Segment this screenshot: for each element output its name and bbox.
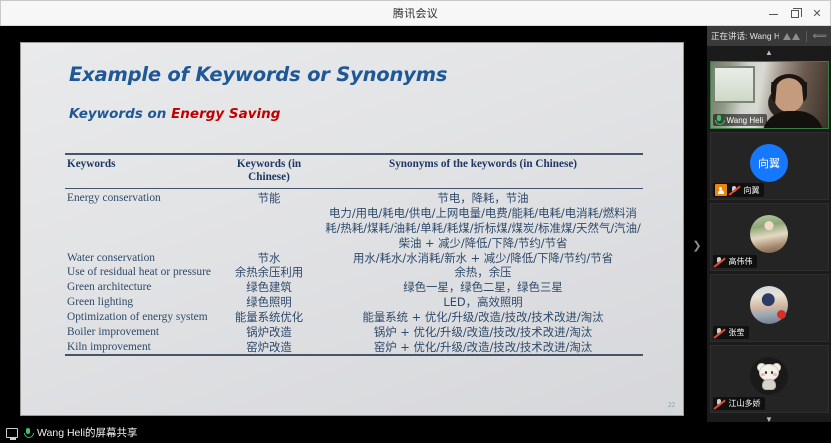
- screen-share-label: Wang Heli的屏幕共享: [37, 425, 138, 440]
- cell-synonyms: 锅炉 + 优化/升级/改造/技改/技术改进/淘汰: [323, 325, 643, 340]
- participant-tile-jiangshanduojiao[interactable]: 江山多娇: [710, 345, 829, 413]
- bottom-status-bar: Wang Heli的屏幕共享: [0, 422, 831, 443]
- participant-tile-xiangyi[interactable]: 向翼 向翼: [710, 132, 829, 200]
- presentation-slide: Example of Keywords or Synonyms Keywords…: [21, 43, 683, 415]
- table-row-extra: 电力/用电/耗电/供电/上网电量/电费/能耗/电耗/电消耗/燃料消耗/热耗/煤耗…: [65, 206, 643, 250]
- mic-on-icon: [23, 428, 32, 438]
- table-row: Use of residual heat or pressure 余热余压利用 …: [65, 265, 643, 280]
- minimize-icon: [769, 14, 778, 15]
- bear-avatar-icon: [756, 364, 782, 390]
- participant-name: 张莹: [729, 327, 745, 338]
- cell-keyword-zh: 锅炉改造: [215, 325, 323, 340]
- participant-name: 高伟伟: [729, 256, 753, 267]
- column-header-keywords: Keywords: [65, 154, 215, 188]
- screen-share-icon: [6, 428, 18, 438]
- participant-name: Wang Heli: [727, 116, 764, 125]
- bear-cheek-right: [773, 373, 777, 376]
- active-speaker-label: 正在讲话: Wang Heli;: [711, 30, 779, 42]
- cell-synonyms: LED，高效照明: [323, 295, 643, 310]
- close-icon: ✕: [812, 9, 821, 20]
- person-body: [762, 111, 824, 128]
- participant-tile-wang-heli[interactable]: Wang Heli: [710, 61, 829, 129]
- cell-keyword-zh: 能量系统优化: [215, 310, 323, 325]
- cell-synonyms-extra: 电力/用电/耗电/供电/上网电量/电费/能耗/电耗/电消耗/燃料消耗/热耗/煤耗…: [323, 206, 643, 250]
- tile-label: 江山多娇: [713, 397, 765, 410]
- maximize-button[interactable]: [784, 2, 806, 26]
- cell-keyword-en: Boiler improvement: [65, 325, 215, 340]
- slide-title: Example of Keywords or Synonyms: [69, 63, 447, 86]
- participants-sidebar: 正在讲话: Wang Heli; ⟸ ▲ Wang Heli: [706, 26, 831, 422]
- person-head: [774, 78, 804, 112]
- cell-keyword-en: Energy conservation: [65, 191, 215, 206]
- mic-off-icon: [715, 399, 726, 409]
- mic-on-icon: [715, 115, 724, 125]
- table-body: Energy conservation 节能 节电，降耗，节油 电力/用电/耗电…: [65, 188, 643, 355]
- participant-tile-zhangying[interactable]: 张莹: [710, 274, 829, 342]
- cell-keyword-zh: 节水: [215, 251, 323, 266]
- participant-name: 江山多娇: [729, 398, 761, 409]
- cell-synonyms: 用水/耗水/水消耗/新水 + 减少/降低/下降/节约/节省: [323, 251, 643, 266]
- cell-keyword-zh: 绿色照明: [215, 295, 323, 310]
- tile-label: 高伟伟: [713, 255, 757, 268]
- cell-synonyms: 节电，降耗，节油: [323, 191, 643, 206]
- table-row: Green lighting 绿色照明 LED，高效照明: [65, 295, 643, 310]
- cell-synonyms: 窑炉 + 优化/升级/改造/技改/技术改进/淘汰: [323, 340, 643, 356]
- participant-tile-gaoweiwei[interactable]: 高伟伟: [710, 203, 829, 271]
- close-button[interactable]: ✕: [806, 2, 828, 26]
- table-header: Keywords Keywords (in Chinese) Synonyms …: [65, 154, 643, 188]
- slide-subtitle: Keywords on Energy Saving: [69, 106, 280, 122]
- title-bar: 腾讯会议 ✕: [0, 0, 831, 26]
- shared-screen-stage: Example of Keywords or Synonyms Keywords…: [0, 26, 706, 422]
- cell-keyword-en: Optimization of energy system: [65, 310, 215, 325]
- participant-name: 向翼: [744, 185, 760, 196]
- bear-cheek-left: [761, 373, 765, 376]
- cell-keyword-zh: 节能: [215, 191, 323, 206]
- mic-off-icon: [730, 185, 741, 195]
- mic-off-icon: [715, 328, 726, 338]
- cell-keyword-zh: 窑炉改造: [215, 340, 323, 356]
- cell-empty-zh: [215, 206, 323, 250]
- cell-empty-en: [65, 206, 215, 250]
- tile-label: 向翼: [713, 183, 764, 197]
- tile-label: 张莹: [713, 326, 749, 339]
- collapse-arrow-icon[interactable]: ⟸: [813, 31, 827, 42]
- slide-subtitle-accent: Energy Saving: [171, 106, 280, 122]
- cell-synonyms: 能量系统 + 优化/升级/改造/技改/技术改进/淘汰: [323, 310, 643, 325]
- table-row: Energy conservation 节能 节电，降耗，节油: [65, 191, 643, 206]
- table-header-row: Keywords Keywords (in Chinese) Synonyms …: [65, 154, 643, 188]
- tencent-meeting-window: 腾讯会议 ✕ Example of Keywords or Synonyms K…: [0, 0, 831, 443]
- window-title: 腾讯会议: [393, 5, 438, 21]
- table-row: Kiln improvement 窑炉改造 窑炉 + 优化/升级/改造/技改/技…: [65, 340, 643, 356]
- table-row: Optimization of energy system 能量系统优化 能量系…: [65, 310, 643, 325]
- tile-label: Wang Heli: [713, 114, 768, 126]
- cell-synonyms: 绿色一星，绿色二星，绿色三星: [323, 280, 643, 295]
- avatar: [750, 286, 788, 324]
- slide-page-number: 22: [668, 401, 675, 409]
- avatar: [750, 357, 788, 395]
- keywords-table: Keywords Keywords (in Chinese) Synonyms …: [65, 153, 643, 356]
- cell-keyword-en: Kiln improvement: [65, 340, 215, 356]
- maximize-icon: [791, 10, 799, 18]
- table-row: Water conservation 节水 用水/耗水/水消耗/新水 + 减少/…: [65, 251, 643, 266]
- cell-keyword-zh: 绿色建筑: [215, 280, 323, 295]
- cell-keyword-en: Water conservation: [65, 251, 215, 266]
- scroll-up-button[interactable]: ▲: [707, 46, 831, 58]
- table-row: Green architecture 绿色建筑 绿色一星，绿色二星，绿色三星: [65, 280, 643, 295]
- window-controls: ✕: [762, 1, 828, 27]
- active-speaker-bar: 正在讲话: Wang Heli; ⟸: [707, 26, 831, 46]
- chevron-right-icon[interactable]: ❯: [690, 228, 704, 262]
- slide-subtitle-prefix: Keywords on: [69, 106, 171, 122]
- avatar: [750, 215, 788, 253]
- column-header-keywords-chinese: Keywords (in Chinese): [215, 154, 323, 188]
- cell-keyword-en: Green architecture: [65, 280, 215, 295]
- minimize-button[interactable]: [762, 2, 784, 26]
- cell-keyword-zh: 余热余压利用: [215, 265, 323, 280]
- background-window: [713, 66, 755, 103]
- mic-off-icon: [715, 257, 726, 267]
- sound-wave-icon: [783, 33, 800, 40]
- cell-keyword-en: Use of residual heat or pressure: [65, 265, 215, 280]
- column-header-synonyms: Synonyms of the keywords (in Chinese): [323, 154, 643, 188]
- participant-tiles: Wang Heli 向翼 向翼 高伟伟: [707, 61, 831, 413]
- host-icon: [715, 184, 727, 196]
- cell-synonyms: 余热，余压: [323, 265, 643, 280]
- cell-keyword-en: Green lighting: [65, 295, 215, 310]
- bear-body: [762, 379, 776, 390]
- table-row: Boiler improvement 锅炉改造 锅炉 + 优化/升级/改造/技改…: [65, 325, 643, 340]
- avatar: 向翼: [750, 144, 788, 182]
- bear-eye-left: [765, 371, 767, 374]
- divider: [806, 31, 807, 42]
